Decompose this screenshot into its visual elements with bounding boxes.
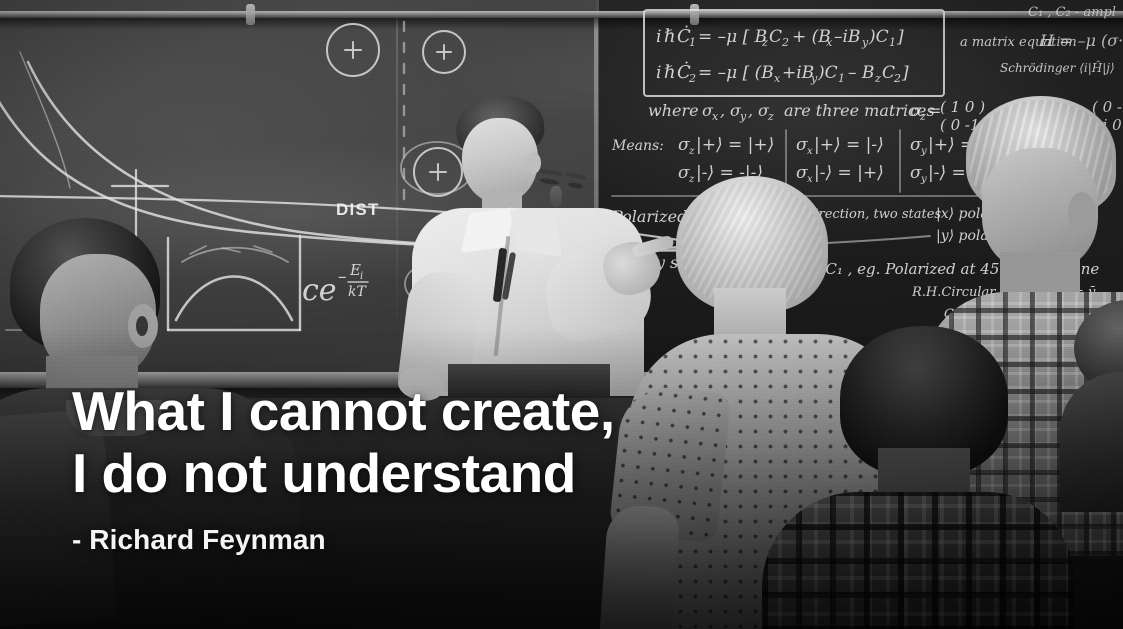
feynman-nose (550, 186, 562, 208)
rail-clip-icon (690, 4, 699, 25)
quote-image: DIST ce – E i kT (0, 0, 1123, 629)
person-richard-feynman (404, 96, 656, 396)
feynman-ear (526, 152, 541, 174)
feynman-collar (510, 209, 563, 257)
quote-line-1: What I cannot create, (72, 380, 772, 442)
feynman-brow (536, 168, 562, 176)
feynman-eye (540, 177, 560, 185)
blackboard-rail-shadow (0, 18, 1123, 30)
student-plaid-ear (1068, 192, 1096, 234)
quote-block: What I cannot create, I do not understan… (72, 380, 772, 556)
student-left-ear (128, 304, 158, 348)
blackboard-rail (0, 11, 1123, 18)
blackboard-seam-left (396, 18, 398, 318)
plaid-pattern (762, 492, 1074, 629)
feynman-eye (568, 182, 584, 190)
quote-line-2: I do not understand (72, 442, 772, 504)
person-edge-right (1074, 300, 1123, 500)
feynman-brow (566, 172, 586, 181)
person-student-bottom-right (796, 326, 1046, 629)
rail-clip-icon (246, 4, 255, 25)
quote-attribution: - Richard Feynman (72, 524, 772, 556)
student-dark-shirt (762, 492, 1074, 629)
